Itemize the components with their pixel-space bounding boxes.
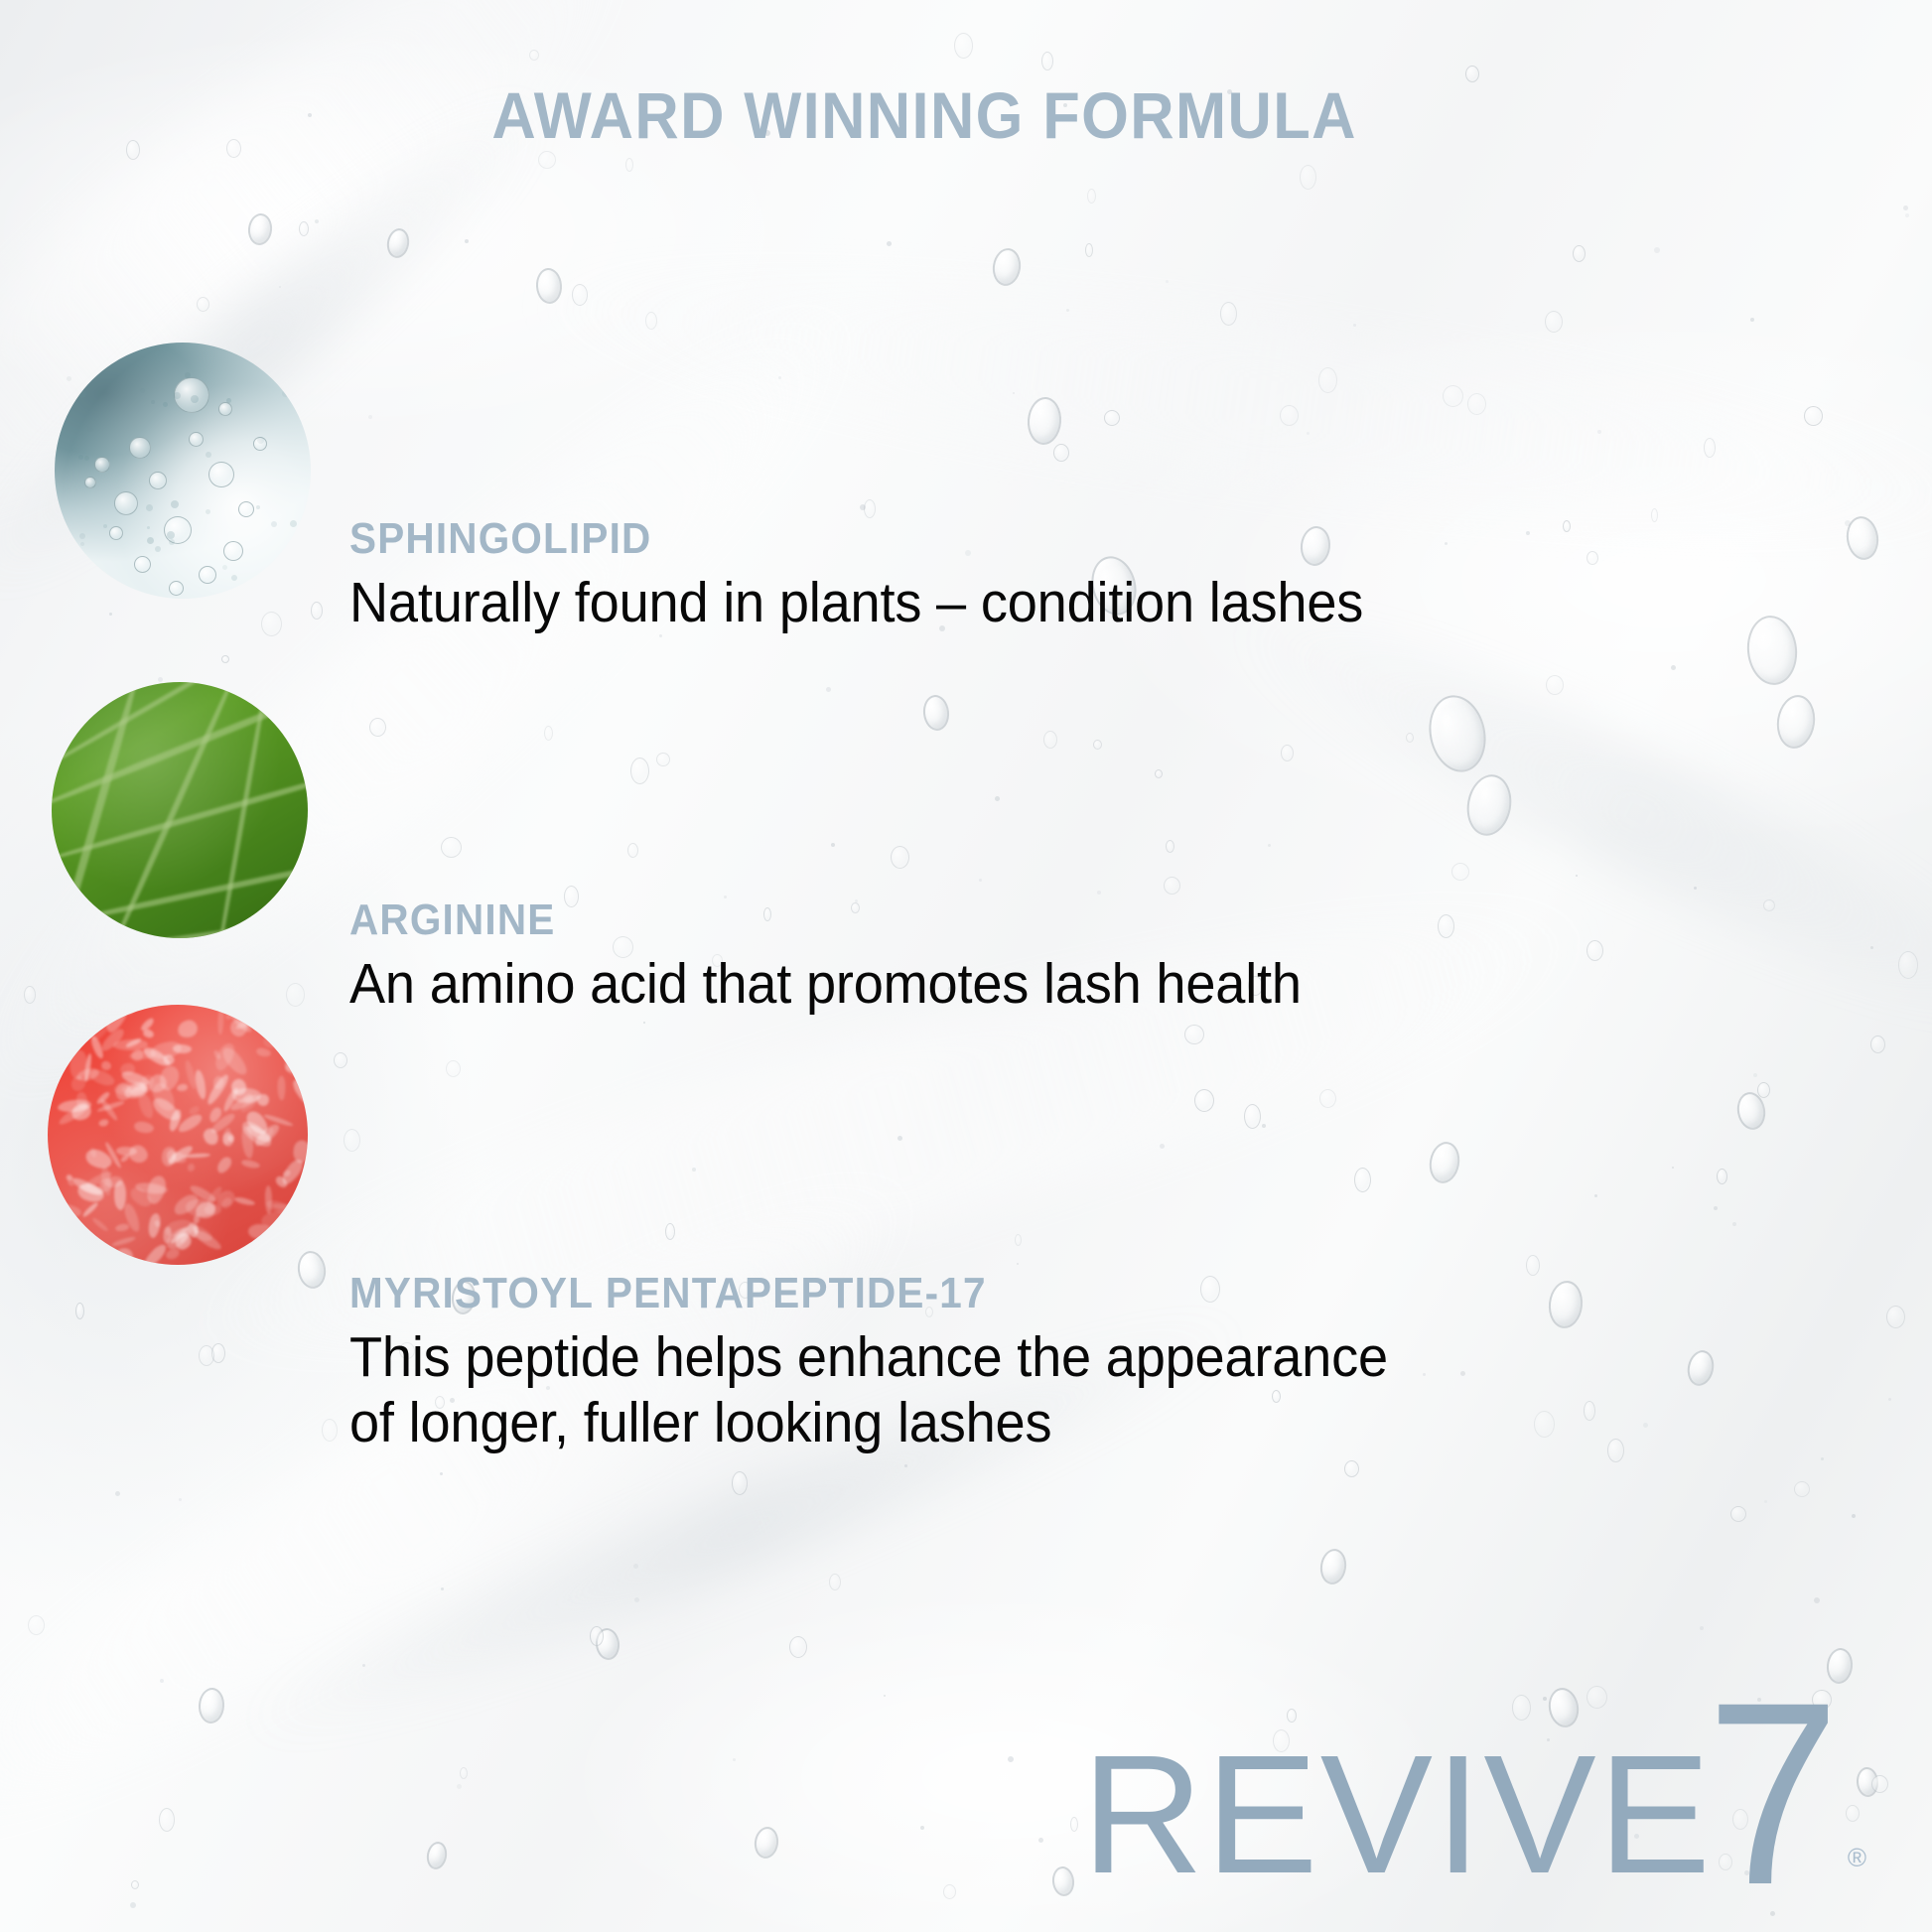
water-speck	[109, 613, 112, 616]
water-bubble-small	[954, 33, 973, 59]
water-speck	[887, 241, 892, 246]
water-bubble-small	[286, 983, 305, 1007]
gel-speck	[282, 390, 289, 397]
gel-speck	[78, 390, 86, 398]
water-bubble-small	[1281, 745, 1294, 761]
water-speck	[130, 1902, 136, 1908]
water-bubble-small	[1319, 1089, 1336, 1108]
gel-bubble	[94, 457, 110, 473]
water-speck	[1353, 324, 1356, 327]
gel-speck	[231, 575, 237, 581]
gel-speck	[270, 580, 276, 586]
water-speck	[1845, 520, 1851, 526]
water-speck	[1750, 318, 1754, 322]
water-speck	[1905, 213, 1909, 217]
gel-speck	[146, 504, 153, 511]
gel-bubble	[134, 556, 151, 573]
water-bubble-small	[299, 221, 309, 236]
gel-speck	[87, 426, 93, 432]
water-bubble-small	[311, 602, 323, 620]
red-flake-texture	[48, 1005, 308, 1265]
water-bubble-small	[625, 158, 633, 172]
water-speck	[368, 415, 372, 419]
gel-speck	[70, 440, 73, 443]
water-bubble-small	[1104, 410, 1120, 426]
water-bubble-small	[1545, 311, 1563, 333]
water-speck	[1038, 1838, 1043, 1843]
red-flake	[248, 1224, 274, 1240]
water-bubble-small	[1344, 1460, 1359, 1477]
water-bubble-small	[1584, 1401, 1595, 1421]
leaf-vein-texture	[52, 682, 308, 938]
water-bubble-small	[24, 986, 36, 1004]
water-speck	[1732, 1222, 1736, 1226]
water-bubble-small	[159, 1808, 175, 1832]
water-speck	[1671, 665, 1676, 670]
water-bubble-small	[1757, 1082, 1770, 1098]
red-flake	[176, 1018, 200, 1039]
water-speck	[440, 1472, 443, 1475]
gel-speck	[276, 569, 284, 577]
water-speck	[279, 286, 281, 288]
water-speck	[995, 796, 1000, 801]
water-bubble-small	[544, 726, 553, 741]
water-bubble-small	[1184, 1025, 1204, 1044]
ingredient-description: An amino acid that promotes lash health	[349, 951, 1302, 1017]
water-bubble-small	[1573, 245, 1586, 262]
water-bubble-small	[1220, 302, 1237, 326]
red-flake	[214, 1155, 234, 1175]
revive7-logo: REVIVE 7 ®	[1082, 1703, 1866, 1884]
water-bubble-small	[829, 1574, 841, 1590]
gel-speck	[174, 392, 181, 399]
water-bubble-small	[1763, 899, 1775, 911]
water-speck	[1526, 531, 1530, 535]
water-bubble-small	[789, 1636, 807, 1658]
ingredient-description: Naturally found in plants – condition la…	[349, 570, 1363, 635]
gel-bubble	[189, 432, 204, 447]
water-speck	[1700, 1626, 1704, 1630]
water-speck	[1013, 392, 1015, 394]
water-bubble-small	[1534, 1411, 1555, 1438]
gel-speck	[169, 539, 175, 545]
water-bubble-small	[538, 151, 556, 169]
water-speck	[1445, 542, 1448, 545]
water-bubble-small	[1087, 189, 1096, 204]
ingredient-block-myristoyl-pentapeptide-17: MYRISTOYL PENTAPEPTIDE-17 This peptide h…	[349, 1269, 1443, 1455]
water-speck	[831, 843, 835, 847]
gel-speck	[80, 542, 84, 546]
water-speck	[1764, 1500, 1767, 1503]
water-bubble-small	[732, 1471, 748, 1495]
water-speck	[1654, 247, 1660, 253]
water-speck	[441, 1587, 444, 1590]
water-bubble-small	[1870, 1035, 1885, 1053]
gel-speck	[151, 400, 155, 404]
water-speck	[884, 1695, 886, 1697]
gel-bubble	[199, 566, 216, 584]
water-speck	[457, 1784, 462, 1789]
ingredient-block-sphingolipid: SPHINGOLIPID Naturally found in plants –…	[349, 514, 1417, 635]
water-speck	[1821, 1457, 1824, 1460]
water-bubble-small	[1406, 733, 1414, 743]
water-speck	[160, 1679, 164, 1683]
red-flake	[187, 1163, 196, 1173]
gel-speck	[279, 381, 285, 387]
gel-bubble	[84, 477, 96, 488]
water-bubble-small	[630, 758, 649, 784]
water-speck	[920, 1826, 924, 1830]
water-speck	[1460, 1371, 1465, 1376]
gel-speck	[271, 521, 277, 527]
gel-speck	[226, 398, 231, 403]
gel-speck	[257, 437, 264, 444]
gel-speck	[84, 456, 89, 461]
water-bubble-small	[1438, 914, 1454, 938]
water-bubble-small	[28, 1615, 45, 1635]
ingredient-heading: SPHINGOLIPID	[349, 514, 1331, 564]
water-bubble-small	[1041, 52, 1053, 70]
gel-bubble	[238, 501, 254, 517]
water-bubble-small	[1794, 1481, 1810, 1497]
bubble-texture	[55, 343, 311, 599]
red-flake	[142, 1028, 155, 1039]
gel-speck	[171, 500, 179, 508]
water-speck	[1694, 887, 1697, 890]
sphingolipid-swatch	[55, 343, 311, 599]
gel-bubble	[223, 541, 243, 561]
water-speck	[1160, 1144, 1165, 1149]
red-flake	[265, 1185, 273, 1214]
water-speck	[1714, 1206, 1718, 1210]
gel-speck	[222, 565, 227, 570]
red-flake	[98, 1118, 110, 1128]
ingredient-heading: MYRISTOYL PENTAPEPTIDE-17	[349, 1269, 1355, 1318]
water-bubble-small	[1318, 367, 1337, 393]
water-bubble-small	[322, 1419, 338, 1442]
gel-bubble	[164, 516, 192, 544]
water-bubble-small	[891, 846, 909, 869]
water-bubble-small	[1164, 877, 1180, 895]
gel-bubble	[109, 526, 123, 540]
gel-bubble	[149, 472, 167, 489]
gel-speck	[163, 402, 168, 407]
water-bubble-small	[369, 718, 386, 737]
water-bubble-small	[1194, 1089, 1214, 1112]
red-flake	[204, 1203, 221, 1216]
water-speck	[465, 239, 469, 243]
red-flake	[234, 1196, 256, 1207]
water-bubble-small	[131, 1880, 139, 1889]
red-flake	[184, 1153, 210, 1158]
gel-speck	[84, 375, 88, 379]
water-bubble-small	[1587, 940, 1603, 961]
water-bubble-small	[334, 1052, 347, 1068]
water-speck	[643, 1022, 645, 1024]
red-flake	[255, 1046, 271, 1057]
red-flake	[149, 1039, 184, 1061]
water-speck	[634, 1597, 639, 1602]
water-bubble-small	[1526, 1255, 1540, 1276]
gel-bubble	[208, 462, 234, 487]
water-speck	[692, 1168, 696, 1172]
water-bubble-small	[1300, 165, 1316, 190]
water-bubble-small	[1546, 675, 1564, 695]
water-bubble-small	[645, 312, 657, 330]
water-speck	[1672, 1167, 1674, 1169]
water-bubble-small	[221, 655, 229, 663]
water-bubble-small	[75, 1303, 84, 1319]
red-flake	[240, 1159, 260, 1170]
red-flake	[160, 1146, 178, 1168]
water-speck	[1814, 1597, 1820, 1603]
water-speck	[362, 1664, 365, 1667]
gel-speck	[206, 452, 211, 458]
red-flake	[278, 1076, 286, 1101]
gel-speck	[256, 505, 260, 509]
water-bubble-small	[590, 1626, 604, 1646]
water-bubble-small	[197, 297, 209, 312]
water-bubble-small	[1704, 438, 1716, 458]
water-speck	[1643, 1423, 1648, 1428]
water-bubble-small	[460, 1767, 468, 1779]
water-bubble-small	[1804, 406, 1823, 426]
water-speck	[979, 879, 982, 882]
water-bubble-small	[627, 843, 638, 858]
water-bubble-small	[1607, 1439, 1624, 1462]
red-flake	[194, 1069, 207, 1100]
water-speck	[1903, 206, 1908, 210]
water-bubble-small	[572, 284, 588, 306]
water-speck	[1543, 1697, 1547, 1701]
red-flake	[81, 1201, 99, 1218]
red-flake	[91, 1216, 110, 1233]
ingredient-heading: ARGININE	[349, 896, 1272, 945]
water-speck	[860, 504, 866, 510]
water-bubble-small	[1871, 1775, 1888, 1793]
water-speck	[1870, 946, 1873, 949]
red-flake	[111, 1235, 136, 1247]
water-bubble-small	[1085, 243, 1093, 257]
water-speck	[1852, 1514, 1856, 1518]
gel-speck	[155, 546, 161, 552]
water-speck	[1576, 875, 1578, 877]
water-speck	[1097, 891, 1101, 895]
water-speck	[1008, 1756, 1014, 1762]
water-bubble-small	[1898, 951, 1918, 979]
water-bubble-small	[1587, 551, 1598, 565]
water-speck	[904, 1464, 907, 1467]
water-speck	[179, 1498, 182, 1501]
water-bubble-small	[1280, 405, 1299, 426]
water-speck	[826, 687, 831, 692]
water-bubble-small	[1443, 385, 1463, 407]
red-flake	[177, 1083, 189, 1091]
water-speck	[1262, 1124, 1266, 1128]
arginine-swatch	[52, 682, 308, 938]
gel-speck	[140, 388, 145, 393]
red-flake	[55, 1231, 66, 1242]
red-flake	[133, 1120, 155, 1135]
gel-speck	[167, 531, 175, 539]
water-bubble-small	[1043, 731, 1057, 749]
gel-speck	[147, 537, 154, 544]
gel-speck	[78, 455, 83, 460]
water-speck	[1268, 844, 1271, 847]
water-speck	[1017, 1263, 1019, 1265]
red-flake	[217, 1005, 225, 1035]
logo-seven-glyph: 7	[1707, 1703, 1840, 1884]
award-winning-formula-graphic: AWARD WINNING FORMULA SPHINGOLIPID Natur…	[0, 0, 1932, 1932]
water-speck	[897, 1136, 902, 1141]
water-bubble-small	[665, 1223, 675, 1240]
gel-speck	[185, 372, 191, 378]
water-bubble-small	[943, 1884, 956, 1899]
red-flake	[290, 1077, 308, 1108]
water-bubble-small	[1651, 508, 1658, 522]
leaf-vein	[65, 853, 308, 924]
registered-trademark-icon: ®	[1848, 1845, 1866, 1870]
water-speck	[315, 219, 319, 223]
red-flake	[115, 1223, 130, 1232]
water-speck	[778, 376, 781, 379]
water-bubble-small	[1155, 769, 1163, 778]
water-bubble-small	[199, 1345, 214, 1366]
water-bubble-small	[1166, 840, 1174, 853]
gel-speck	[206, 509, 210, 514]
water-bubble-small	[1563, 520, 1571, 532]
water-bubble-small	[1730, 1506, 1746, 1522]
water-bubble-small	[261, 612, 282, 636]
water-bubble-small	[529, 50, 539, 61]
water-bubble-small	[1070, 1817, 1078, 1832]
water-speck	[733, 1758, 736, 1761]
water-bubble-small	[446, 1060, 461, 1077]
ingredient-description: This peptide helps enhance the appearanc…	[349, 1324, 1388, 1455]
water-bubble-small	[1244, 1104, 1261, 1129]
gel-speck	[103, 524, 107, 528]
gel-bubble	[169, 581, 184, 596]
water-bubble-small	[1451, 863, 1469, 881]
water-speck	[1597, 430, 1601, 434]
water-bubble-small	[1467, 393, 1486, 415]
water-bubble-small	[1354, 1168, 1371, 1192]
water-bubble-small	[1886, 1306, 1905, 1328]
water-speck	[115, 1491, 120, 1496]
gel-speck	[259, 360, 268, 369]
red-flake	[87, 1066, 116, 1088]
gel-bubble	[129, 437, 151, 459]
water-speck	[1753, 1073, 1757, 1077]
page-title: AWARD WINNING FORMULA	[68, 77, 1864, 153]
water-bubble-small	[1093, 740, 1102, 750]
water-bubble-small	[656, 753, 670, 766]
water-speck	[633, 1564, 638, 1569]
water-speck	[1066, 309, 1069, 312]
gel-speck	[191, 395, 199, 403]
logo-wordmark: REVIVE	[1082, 1746, 1714, 1884]
gel-bubble	[218, 402, 232, 416]
ingredient-block-arginine: ARGININE An amino acid that promotes las…	[349, 896, 1351, 1017]
water-bubble-small	[344, 1129, 360, 1152]
gel-speck	[79, 533, 85, 539]
water-bubble-small	[1015, 1234, 1022, 1246]
water-bubble-small	[441, 837, 462, 858]
water-speck	[1307, 432, 1310, 435]
water-speck	[1166, 280, 1169, 283]
water-bubble-small	[1053, 444, 1069, 462]
water-speck	[1888, 1398, 1891, 1401]
water-speck	[1594, 1194, 1597, 1197]
water-bubble-small	[1717, 1169, 1727, 1184]
gel-speck	[147, 526, 150, 529]
gel-speck	[290, 520, 297, 527]
myristoyl-pentapeptide-swatch	[48, 1005, 308, 1265]
gel-bubble	[114, 491, 138, 515]
